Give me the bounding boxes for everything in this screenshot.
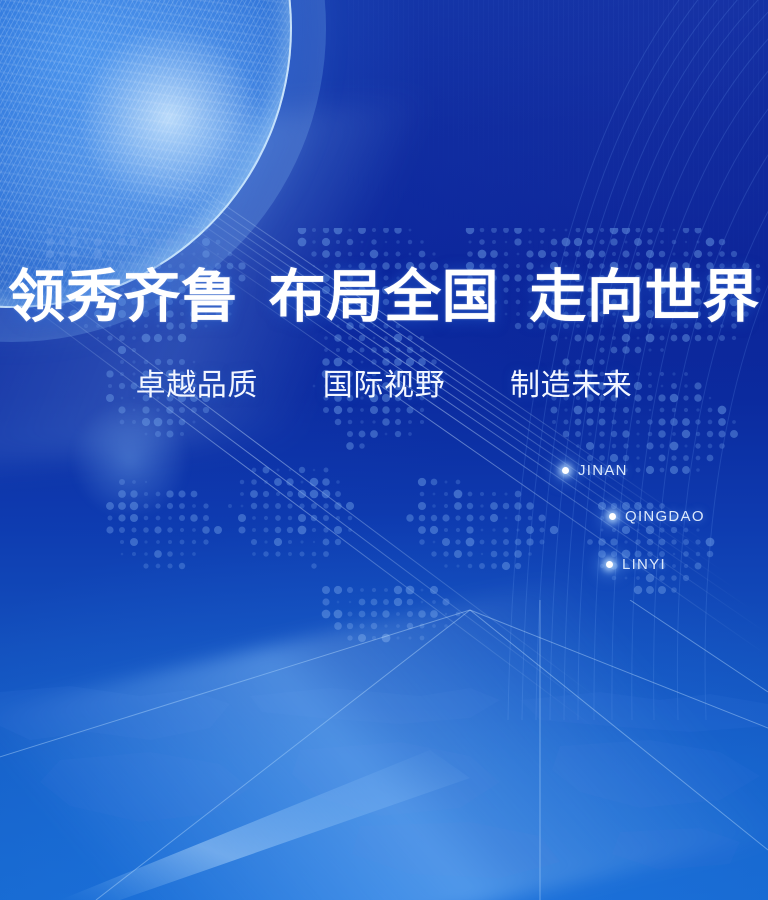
location-pin-icon xyxy=(606,561,613,568)
page-subtitle: 卓越品质 国际视野 制造未来 xyxy=(0,368,768,404)
location-pin-icon xyxy=(562,467,569,474)
map-marker-label: QINGDAO xyxy=(625,508,705,525)
page-title: 领秀齐鲁 布局全国 走向世界 xyxy=(0,268,768,327)
banner-stage: 领秀齐鲁 布局全国 走向世界 卓越品质 国际视野 制造未来 JINAN QING… xyxy=(0,0,768,900)
glow-spot-left xyxy=(70,400,190,520)
map-marker-label: LINYI xyxy=(622,556,666,573)
map-marker-linyi[interactable]: LINYI xyxy=(606,556,666,573)
location-pin-icon xyxy=(609,513,616,520)
map-marker-qingdao[interactable]: QINGDAO xyxy=(609,508,705,525)
map-marker-jinan[interactable]: JINAN xyxy=(562,462,628,479)
map-marker-label: JINAN xyxy=(578,462,628,479)
